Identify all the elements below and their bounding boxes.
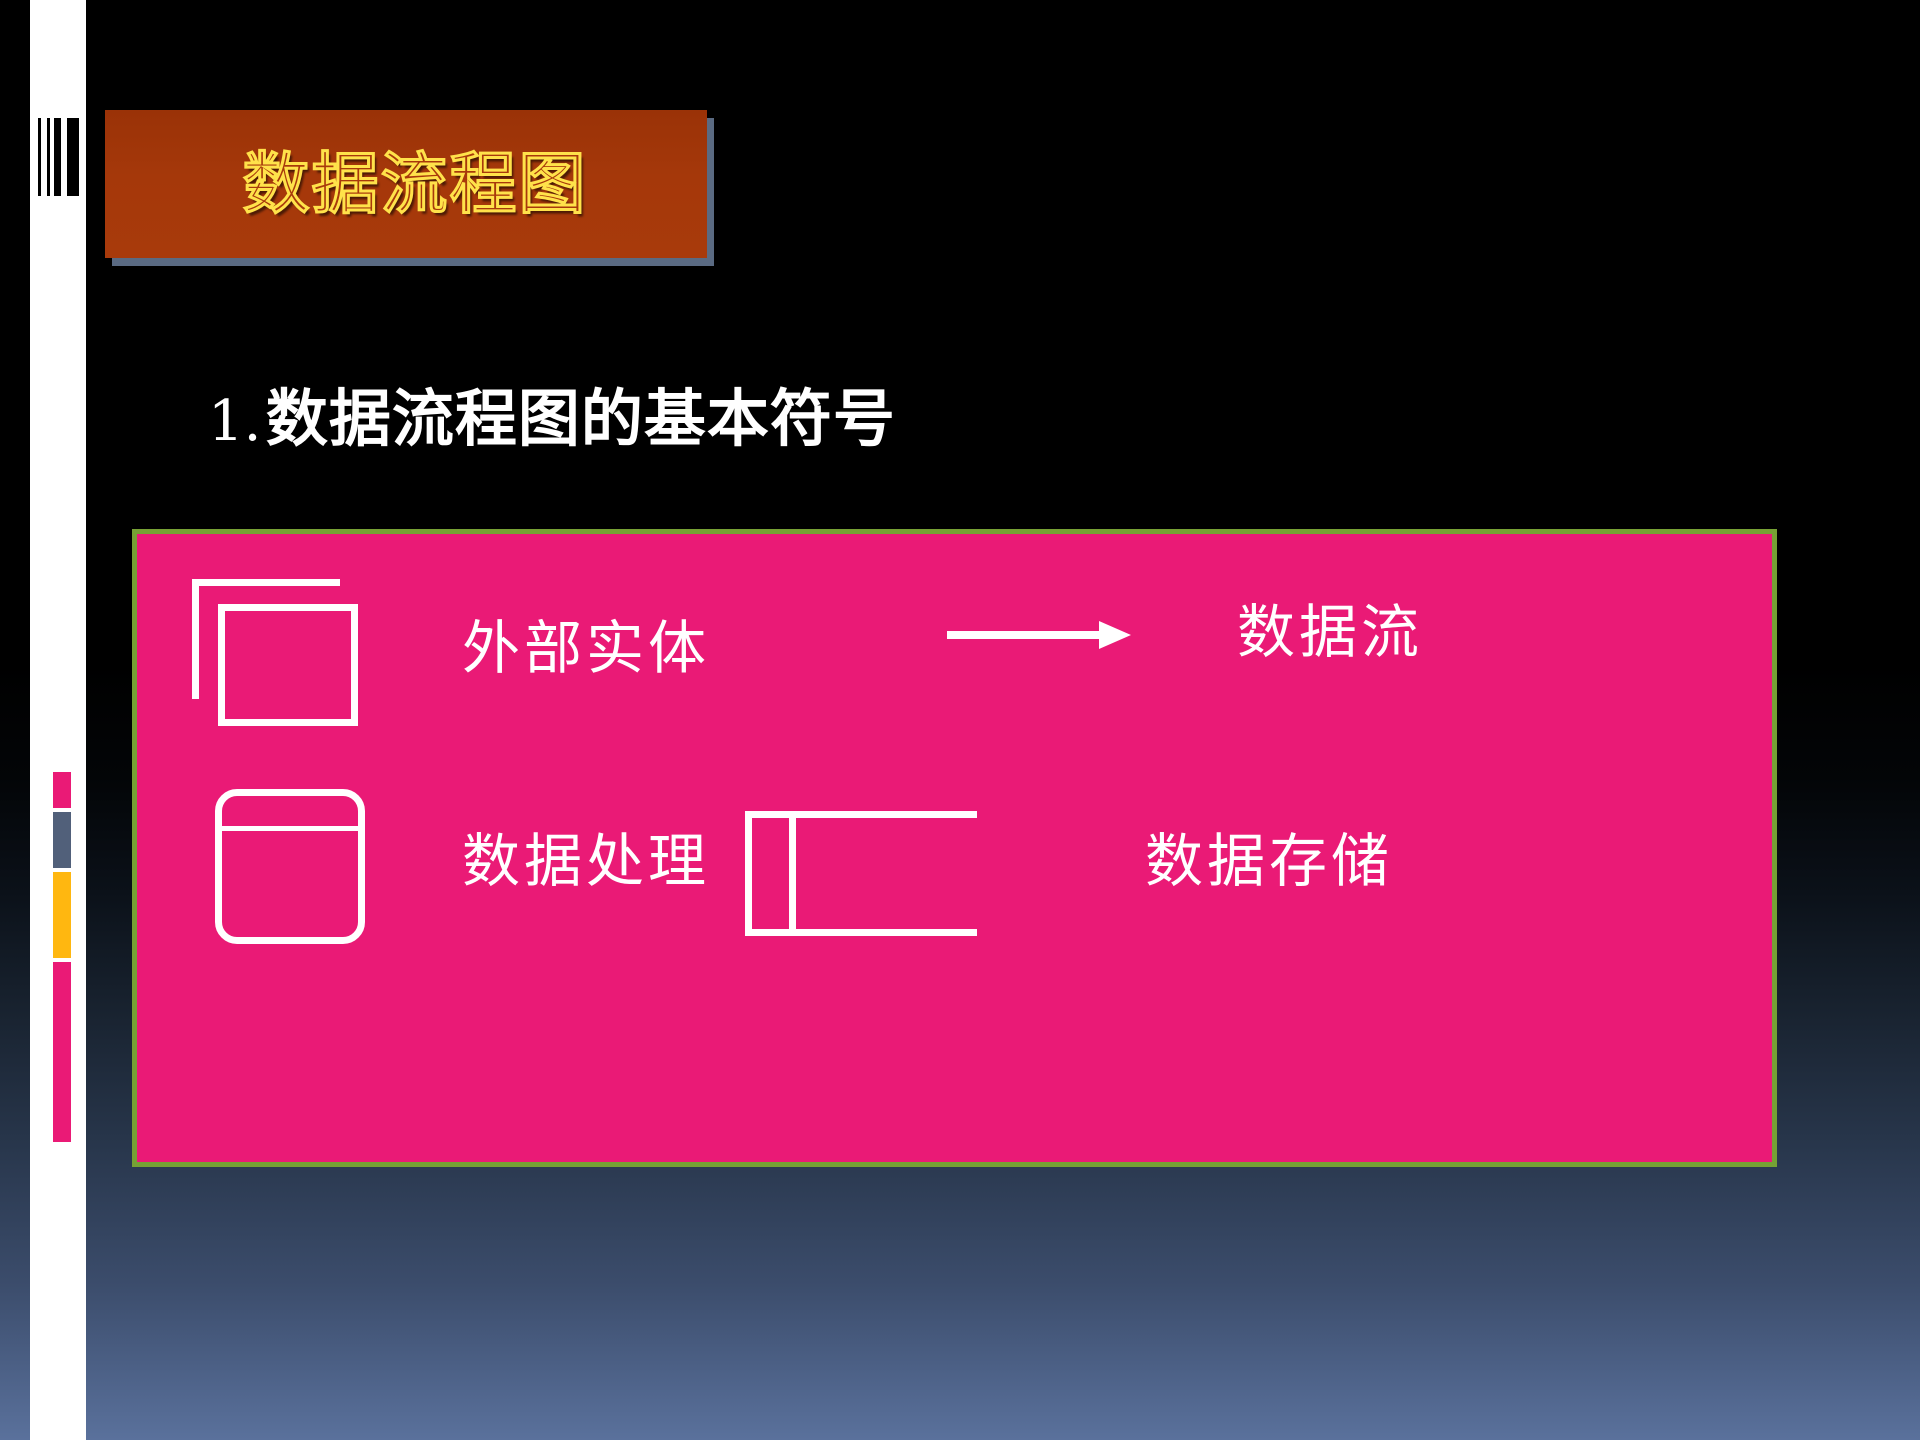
- bar-pink-long: [53, 962, 71, 1142]
- symbol-external-entity: 外部实体: [192, 579, 612, 779]
- barcode-stripe: [67, 118, 79, 196]
- section-heading-number: 1.: [208, 389, 261, 454]
- symbol-row-1: 外部实体 数据流: [137, 579, 1772, 779]
- layered-rectangle-icon: [192, 579, 367, 739]
- open-rectangle-top: [745, 811, 977, 818]
- title-plate: 数据流程图: [105, 110, 707, 258]
- symbol-label-data-process: 数据处理: [462, 832, 710, 890]
- open-rectangle-left: [745, 811, 752, 936]
- open-rectangle-bottom: [745, 929, 977, 936]
- barcode-stripe: [47, 118, 50, 196]
- rounded-rectangle-icon: [215, 789, 365, 944]
- bar-pink-small: [53, 772, 71, 808]
- symbol-data-flow: 数据流: [927, 579, 1627, 779]
- symbol-data-process: 数据处理: [215, 789, 635, 989]
- page-title: 数据流程图: [225, 151, 588, 218]
- section-heading: 1. 数据流程图的基本符号: [208, 388, 896, 450]
- symbol-label-external-entity: 外部实体: [462, 619, 710, 677]
- arrow-shaft: [947, 631, 1107, 639]
- barcode-decoration: [38, 118, 86, 196]
- barcode-stripe: [38, 118, 41, 196]
- symbol-data-store: 数据存储: [745, 789, 1645, 989]
- right-arrow-icon: [947, 621, 1137, 651]
- bar-slate: [53, 812, 71, 868]
- symbol-label-data-store: 数据存储: [1145, 832, 1393, 890]
- slide: 数据流程图 1. 数据流程图的基本符号 外部实体 数据流: [0, 0, 1920, 1440]
- open-rectangle-icon: [745, 811, 977, 936]
- symbol-row-2: 数据处理 数据存储: [137, 789, 1772, 989]
- bar-amber: [53, 872, 71, 958]
- symbol-panel: 外部实体 数据流 数据处理: [132, 529, 1777, 1167]
- layered-rectangle-front: [218, 604, 358, 726]
- open-rectangle-divider: [789, 811, 796, 936]
- section-heading-label: 数据流程图的基本符号: [266, 382, 896, 455]
- sidebar-strip: [30, 0, 86, 1440]
- rounded-rectangle-divider: [215, 826, 365, 831]
- barcode-stripe: [54, 118, 61, 196]
- rounded-rectangle-outline: [215, 789, 365, 944]
- arrow-head: [1099, 621, 1131, 649]
- symbol-label-data-flow: 数据流: [1237, 603, 1423, 661]
